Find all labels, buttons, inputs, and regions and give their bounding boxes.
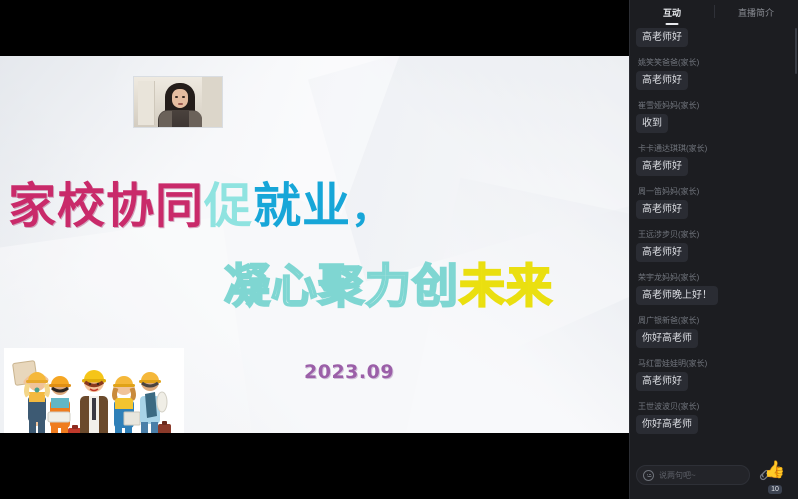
message-bubble: 高老师晚上好！ bbox=[636, 286, 718, 305]
message-sender: 姚笑笑爸爸(家长) bbox=[636, 57, 792, 69]
tab-interaction[interactable]: 互动 bbox=[630, 6, 714, 19]
message-bubble: 收到 bbox=[636, 114, 668, 133]
chat-tabs: 互动 直播简介 bbox=[630, 0, 798, 24]
video-stage[interactable]: 家校协同促就业， 凝心聚力创未来 2023.09 bbox=[0, 0, 629, 499]
message-bubble: 高老师好 bbox=[636, 243, 688, 262]
live-stream-player-window: 家校协同促就业， 凝心聚力创未来 2023.09 bbox=[0, 0, 798, 499]
slide-title-line-2: 凝心聚力创未来 bbox=[224, 263, 553, 309]
slide-title-line-1: 家校协同促就业， bbox=[8, 182, 392, 230]
chat-scrollbar[interactable] bbox=[795, 28, 797, 74]
chat-panel: 互动 直播简介 高老师好 姚笑笑爸爸(家长) 高老师好 崔雪娅妈妈(家长) 收到 bbox=[629, 0, 798, 499]
chat-bottom-bar: 说两句吧~ 👍 10 bbox=[630, 444, 798, 499]
tab-interaction-label: 互动 bbox=[663, 8, 681, 18]
message-sender: 马红雷娃娃明(家长) bbox=[636, 358, 792, 370]
title-segment-4: ， bbox=[351, 186, 392, 232]
list-item: 高老师好 bbox=[636, 26, 792, 52]
like-button[interactable]: 👍 10 bbox=[762, 461, 788, 491]
message-bubble: 你好高老师 bbox=[636, 329, 698, 348]
title-segment-1: 家校协同 bbox=[8, 178, 204, 234]
presentation-slide: 家校协同促就业， 凝心聚力创未来 2023.09 bbox=[0, 56, 629, 433]
message-bubble: 高老师好 bbox=[636, 157, 688, 176]
message-sender: 周一笛妈妈(家长) bbox=[636, 186, 792, 198]
message-bubble: 高老师好 bbox=[636, 71, 688, 90]
list-item: 荣宇龙妈妈(家长) 高老师晚上好！ bbox=[636, 272, 792, 310]
list-item: 王远涉步贝(家长) 高老师好 bbox=[636, 229, 792, 267]
message-sender: 王远涉步贝(家长) bbox=[636, 229, 792, 241]
construction-workers-team-illustration bbox=[4, 348, 184, 433]
list-item: 崔雪娅妈妈(家长) 收到 bbox=[636, 100, 792, 138]
tab-divider bbox=[714, 5, 715, 18]
chat-input-placeholder: 说两句吧~ bbox=[659, 470, 696, 481]
tab-active-underline bbox=[666, 23, 679, 25]
title-segment-3: 就业 bbox=[253, 178, 351, 234]
message-sender: 荣宇龙妈妈(家长) bbox=[636, 272, 792, 284]
list-item: 周一笛妈妈(家长) 高老师好 bbox=[636, 186, 792, 224]
list-item: 周广银新爸(家长) 你好高老师 bbox=[636, 315, 792, 353]
message-sender: 卡卡通达琪琪(家长) bbox=[636, 143, 792, 155]
chat-input[interactable]: 说两句吧~ bbox=[636, 465, 750, 485]
workers-svg bbox=[4, 348, 184, 433]
slide-date: 2023.09 bbox=[304, 361, 394, 383]
chat-message-list[interactable]: 高老师好 姚笑笑爸爸(家长) 高老师好 崔雪娅妈妈(家长) 收到 卡卡通达琪琪(… bbox=[630, 26, 798, 444]
tab-stream-info[interactable]: 直播简介 bbox=[714, 6, 798, 19]
message-bubble: 高老师好 bbox=[636, 200, 688, 219]
like-count: 10 bbox=[768, 485, 782, 494]
subtitle-segment-2: 未来 bbox=[459, 259, 553, 313]
smiley-face-icon[interactable] bbox=[643, 470, 654, 481]
message-sender: 周广银新爸(家长) bbox=[636, 315, 792, 327]
message-bubble: 高老师好 bbox=[636, 28, 688, 47]
tab-stream-info-label: 直播简介 bbox=[738, 8, 774, 18]
presenter-webcam-thumbnail[interactable] bbox=[133, 76, 223, 128]
message-sender: 崔雪娅妈妈(家长) bbox=[636, 100, 792, 112]
message-bubble: 你好高老师 bbox=[636, 415, 698, 434]
thumbs-up-icon: 👍 bbox=[762, 461, 788, 478]
list-item: 马红雷娃娃明(家长) 高老师好 bbox=[636, 358, 792, 396]
list-item: 王世波波贝(家长) 你好高老师 bbox=[636, 401, 792, 439]
list-item: 卡卡通达琪琪(家长) 高老师好 bbox=[636, 143, 792, 181]
title-segment-2: 促 bbox=[204, 178, 253, 234]
list-item: 姚笑笑爸爸(家长) 高老师好 bbox=[636, 57, 792, 95]
message-bubble: 高老师好 bbox=[636, 372, 688, 391]
subtitle-segment-1: 凝心聚力创 bbox=[224, 259, 459, 313]
message-sender: 王世波波贝(家长) bbox=[636, 401, 792, 413]
